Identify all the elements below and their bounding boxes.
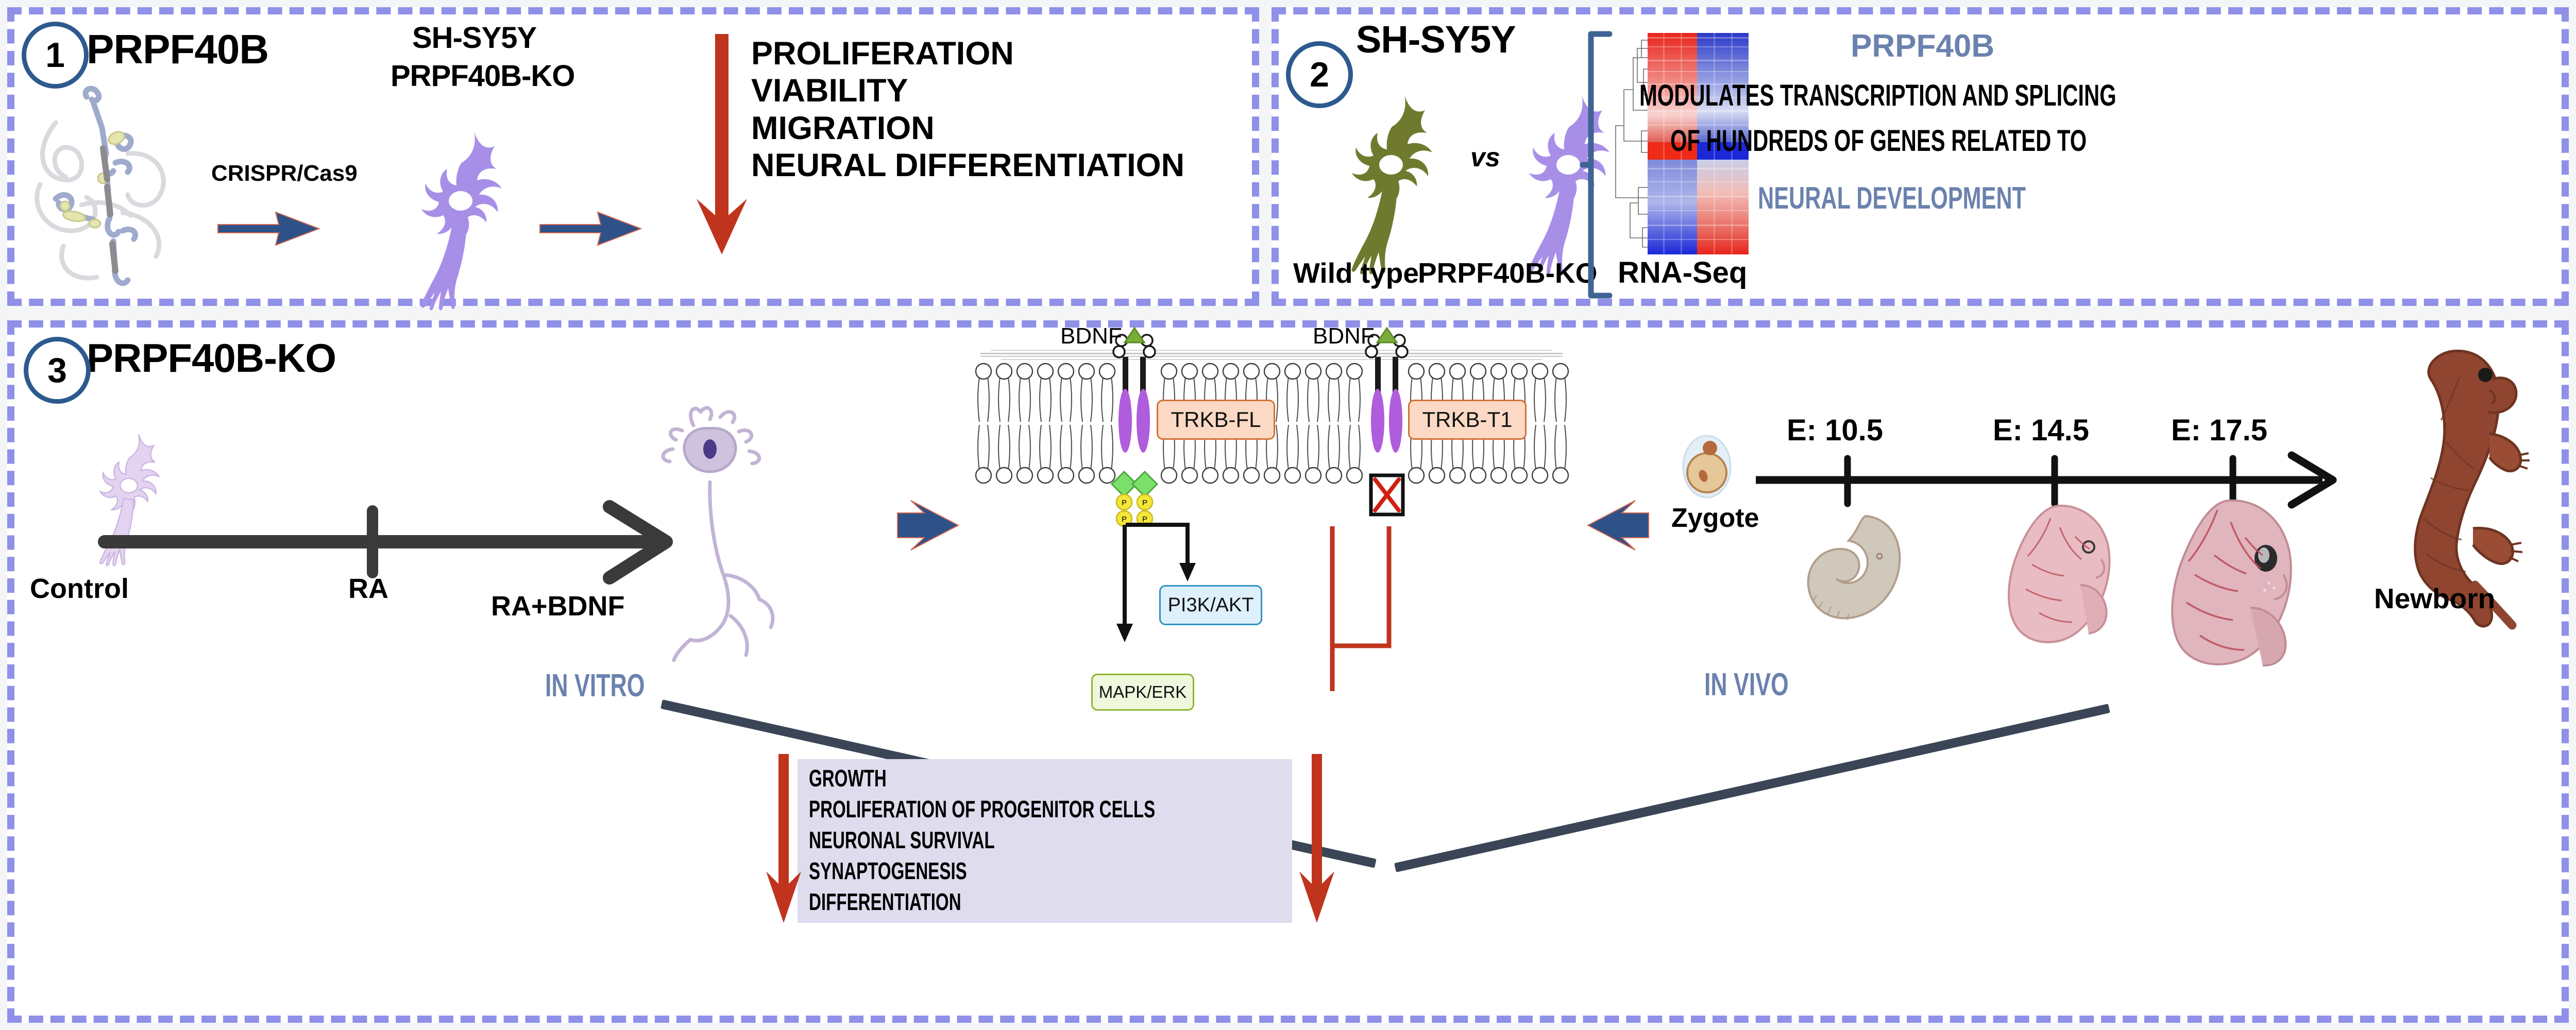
ko-label: PRPF40B-KO [1418, 256, 1597, 289]
outcome-item: SYNAPTOGENESIS [809, 857, 1028, 885]
zygote-icon [1679, 431, 1735, 508]
panel-1: 1 PRPF40B [7, 7, 1259, 306]
protein-ribbon-icon [25, 76, 179, 293]
outcome-item: MIGRATION [751, 110, 1184, 147]
panel-2-cellline: SH-SY5Y [1356, 18, 1516, 61]
outcome-text: SYNAPTOGENESIS [809, 857, 967, 885]
assay-label: RNA-Seq [1618, 255, 1747, 290]
conclusion-line-text: MODULATES TRANSCRIPTION AND SPLICING [1639, 78, 2116, 113]
embryo-e105-icon [1801, 509, 1914, 627]
trkb-fl-tag: TRKB-FL [1157, 400, 1275, 440]
mapk-erk-tag: MAPK/ERK [1091, 674, 1194, 711]
outcome-item: NEURAL DIFFERENTIATION [751, 147, 1184, 184]
crispr-label: CRISPR/Cas9 [211, 161, 358, 186]
embryo-e175-icon [2168, 497, 2307, 667]
conclusion-line: OF HUNDREDS OF GENES RELATED TO [1670, 124, 2248, 158]
neuron-icon [396, 107, 530, 313]
outcome-text: NEURONAL SURVIVAL [809, 826, 995, 854]
zygote-label: Zygote [1671, 503, 1759, 534]
bracket-icon [1583, 31, 1614, 299]
graphical-abstract: 1 PRPF40B [0, 0, 2576, 1030]
wildtype-label: Wild type [1293, 256, 1419, 289]
pi3k-akt-tag: PI3K/AKT [1159, 585, 1262, 625]
outcome-item: NEURONAL SURVIVAL [809, 826, 1067, 854]
panel-2: 2 SH-SY5Y vs Wild type [1272, 7, 2569, 306]
conclusion-tail: NEURAL DEVELOPMENT [1758, 180, 2130, 216]
timepoint-label: E: 17.5 [2171, 413, 2267, 448]
conclusion-line-text: OF HUNDREDS OF GENES RELATED TO [1670, 124, 2087, 158]
invivo-in-arrow-icon [1584, 497, 1651, 554]
effect-arrow-icon [540, 208, 643, 249]
invitro-stage-label: RA+BDNF [491, 590, 625, 622]
panel-3-number: 3 [24, 337, 91, 404]
red-down-arrow-icon [693, 34, 750, 255]
signaling-in-arrow-icon [895, 497, 962, 554]
svg-text:P: P [1142, 499, 1147, 507]
outcome-text: GROWTH [809, 764, 887, 792]
invitro-label-text: IN VITRO [545, 667, 645, 704]
vs-label: vs [1470, 142, 1500, 173]
panel-1-outcome-list: PROLIFERATION VIABILITY MIGRATION NEURAL… [751, 35, 1184, 184]
dendrogram-icon [1613, 33, 1648, 254]
red-down-arrow-left-icon [764, 754, 803, 924]
panel-1-genotype: PRPF40B-KO [391, 59, 574, 93]
panel-3: 3 PRPF40B-KO [7, 320, 2569, 1023]
neuron-wildtype-icon [1326, 71, 1460, 277]
svg-text:P: P [1122, 499, 1127, 507]
timepoint-label: E: 10.5 [1787, 413, 1883, 448]
bdnf-label-right: BDNF [1313, 323, 1375, 349]
panel-3-outcome-box: GROWTH PROLIFERATION OF PROGENITOR CELLS… [798, 759, 1292, 923]
invivo-label: IN VIVO [1704, 666, 1821, 703]
panel-1-cellline: SH-SY5Y [412, 21, 536, 55]
outcome-item: DIFFERENTIATION [809, 888, 1021, 916]
inhibition-bracket-icon [1328, 523, 1400, 693]
newborn-label: Newborn [2374, 582, 2495, 615]
panel-3-title: PRPF40B-KO [87, 335, 336, 382]
invitro-label: IN VITRO [545, 667, 684, 704]
conclusion-tail-text: NEURAL DEVELOPMENT [1758, 180, 2026, 216]
panel-1-title: PRPF40B [87, 26, 268, 73]
crispr-arrow-icon [218, 208, 321, 249]
red-down-arrow-right-icon [1297, 754, 1336, 924]
invitro-timeline-arrow-icon [105, 507, 702, 589]
outcome-item: PROLIFERATION [751, 35, 1184, 72]
trkb-t1-tag: TRKB-T1 [1408, 400, 1527, 440]
outcome-item: VIABILITY [751, 72, 1184, 109]
outcome-item: PROLIFERATION OF PROGENITOR CELLS [809, 795, 1290, 823]
bdnf-label-left: BDNF [1060, 323, 1122, 349]
invivo-label-text: IN VIVO [1704, 666, 1789, 703]
invitro-stage-label: Control [30, 573, 129, 605]
outcome-item: GROWTH [809, 764, 917, 792]
timepoint-label: E: 14.5 [1993, 413, 2089, 448]
converge-line-right [1394, 703, 2110, 872]
embryo-e145-icon [2003, 503, 2122, 647]
conclusion-head: PRPF40B [1851, 28, 1994, 64]
outcome-text: DIFFERENTIATION [809, 888, 961, 916]
invitro-stage-label: RA [348, 573, 388, 605]
outcome-text: PROLIFERATION OF PROGENITOR CELLS [809, 795, 1155, 823]
conclusion-line: MODULATES TRANSCRIPTION AND SPLICING [1639, 78, 2302, 113]
panel-2-number: 2 [1286, 41, 1353, 108]
panel-1-number: 1 [22, 22, 89, 89]
